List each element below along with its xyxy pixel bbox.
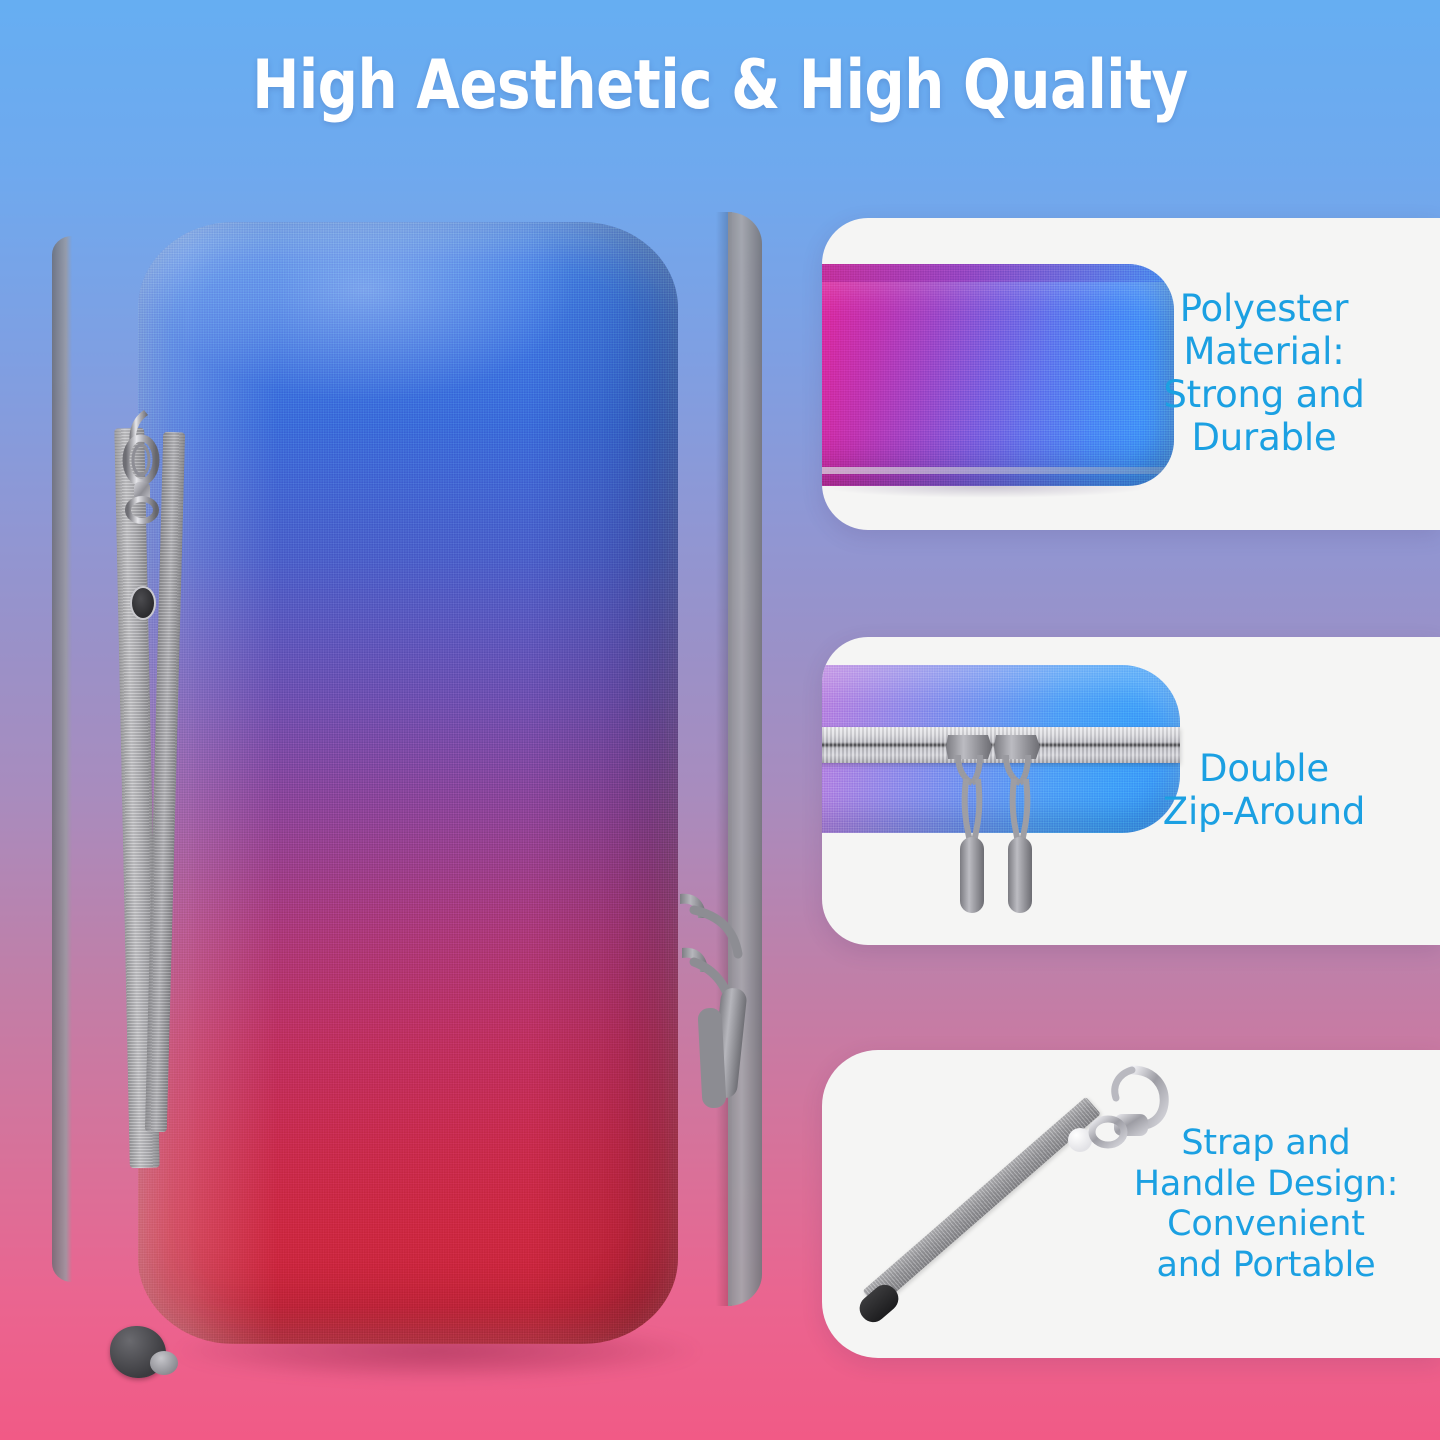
- feature-card-polyester-material[interactable]: Polyester Material: Strong and Durable: [822, 218, 1440, 530]
- page-title: High Aesthetic & High Quality: [58, 46, 1383, 125]
- feature-line: Convenient: [1106, 1204, 1426, 1245]
- hero-product-image: [58, 196, 758, 1396]
- case-edge-trim-left: [52, 236, 72, 1282]
- feature-line: and Portable: [1106, 1245, 1426, 1286]
- feature-card-polyester-material-label: Polyester Material: Strong and Durable: [1114, 288, 1414, 460]
- feature-card-double-zip-around[interactable]: Double Zip-Around: [822, 637, 1440, 945]
- carabiner-clip-icon: [114, 404, 178, 554]
- feature-card-double-zip-around-label: Double Zip-Around: [1114, 748, 1414, 834]
- strap-eyelet: [130, 586, 156, 620]
- product-case-body: [138, 222, 678, 1344]
- card1-case-seam: [822, 467, 1174, 474]
- zipper-pulls-icon: [672, 888, 802, 1158]
- feature-line: Handle Design:: [1106, 1163, 1426, 1204]
- feature-card-strap-and-handle[interactable]: Strap and Handle Design: Convenient and …: [822, 1050, 1440, 1358]
- strap-stopper-ring: [150, 1351, 178, 1375]
- feature-line: Polyester: [1114, 288, 1414, 331]
- feature-line: Double: [1114, 748, 1414, 791]
- feature-line: Durable: [1114, 417, 1414, 460]
- page-title-container: High Aesthetic & High Quality: [0, 46, 1440, 125]
- card2-zipper-pulls-icon: [944, 733, 1064, 933]
- feature-line: Strap and: [1106, 1123, 1426, 1164]
- case-highlight-sheen: [138, 222, 678, 1344]
- feature-line: Strong and: [1114, 374, 1414, 417]
- card3-strap-webbing: [862, 1097, 1100, 1309]
- feature-line: Material:: [1114, 331, 1414, 374]
- feature-card-strap-and-handle-label: Strap and Handle Design: Convenient and …: [1106, 1123, 1426, 1285]
- feature-line: Zip-Around: [1114, 791, 1414, 834]
